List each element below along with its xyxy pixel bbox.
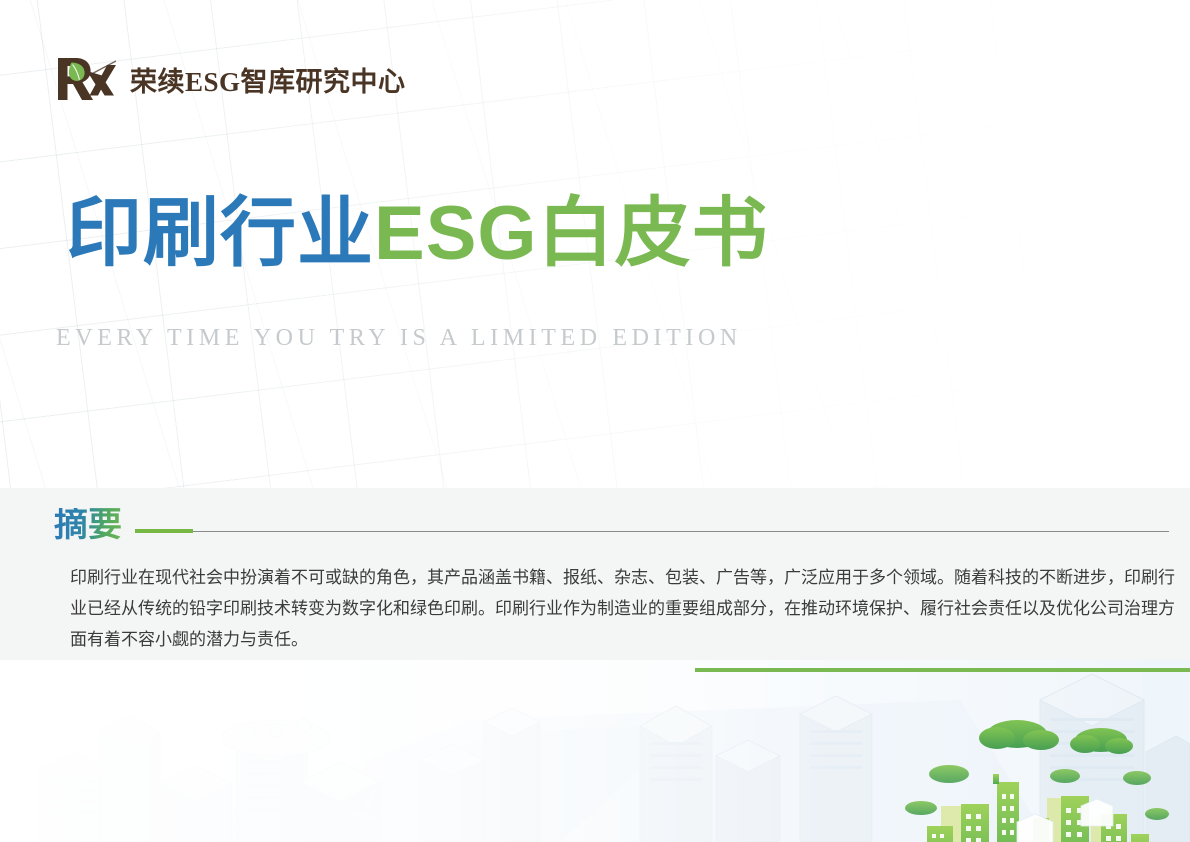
- band-bottom-green-rule: [695, 668, 1190, 672]
- abstract-heading: 摘要: [54, 508, 122, 542]
- brand-logo-group: 荣续ESG智库研究中心: [54, 54, 406, 104]
- page-title: 印刷行业ESG白皮书: [66, 196, 769, 272]
- brand-name-text: 荣续ESG智库研究中心: [130, 60, 406, 99]
- abstract-grey-rule: [193, 531, 1169, 532]
- cover-page: 荣续ESG智库研究中心 印刷行业ESG白皮书 EVERY TIME YOU TR…: [0, 0, 1190, 842]
- page-title-blue-part: 印刷行业: [66, 191, 374, 276]
- page-title-green-part: ESG白皮书: [374, 191, 769, 276]
- abstract-heading-row: 摘要: [54, 508, 1179, 542]
- rx-leaf-logo-icon: [54, 54, 120, 104]
- page-subtitle: EVERY TIME YOU TRY IS A LIMITED EDITION: [56, 325, 742, 352]
- abstract-body-text: 印刷行业在现代社会中扮演着不可或缺的角色，其产品涵盖书籍、报纸、杂志、包装、广告…: [70, 562, 1175, 655]
- abstract-green-rule: [135, 529, 193, 533]
- cityscape-illustration: [0, 660, 1190, 842]
